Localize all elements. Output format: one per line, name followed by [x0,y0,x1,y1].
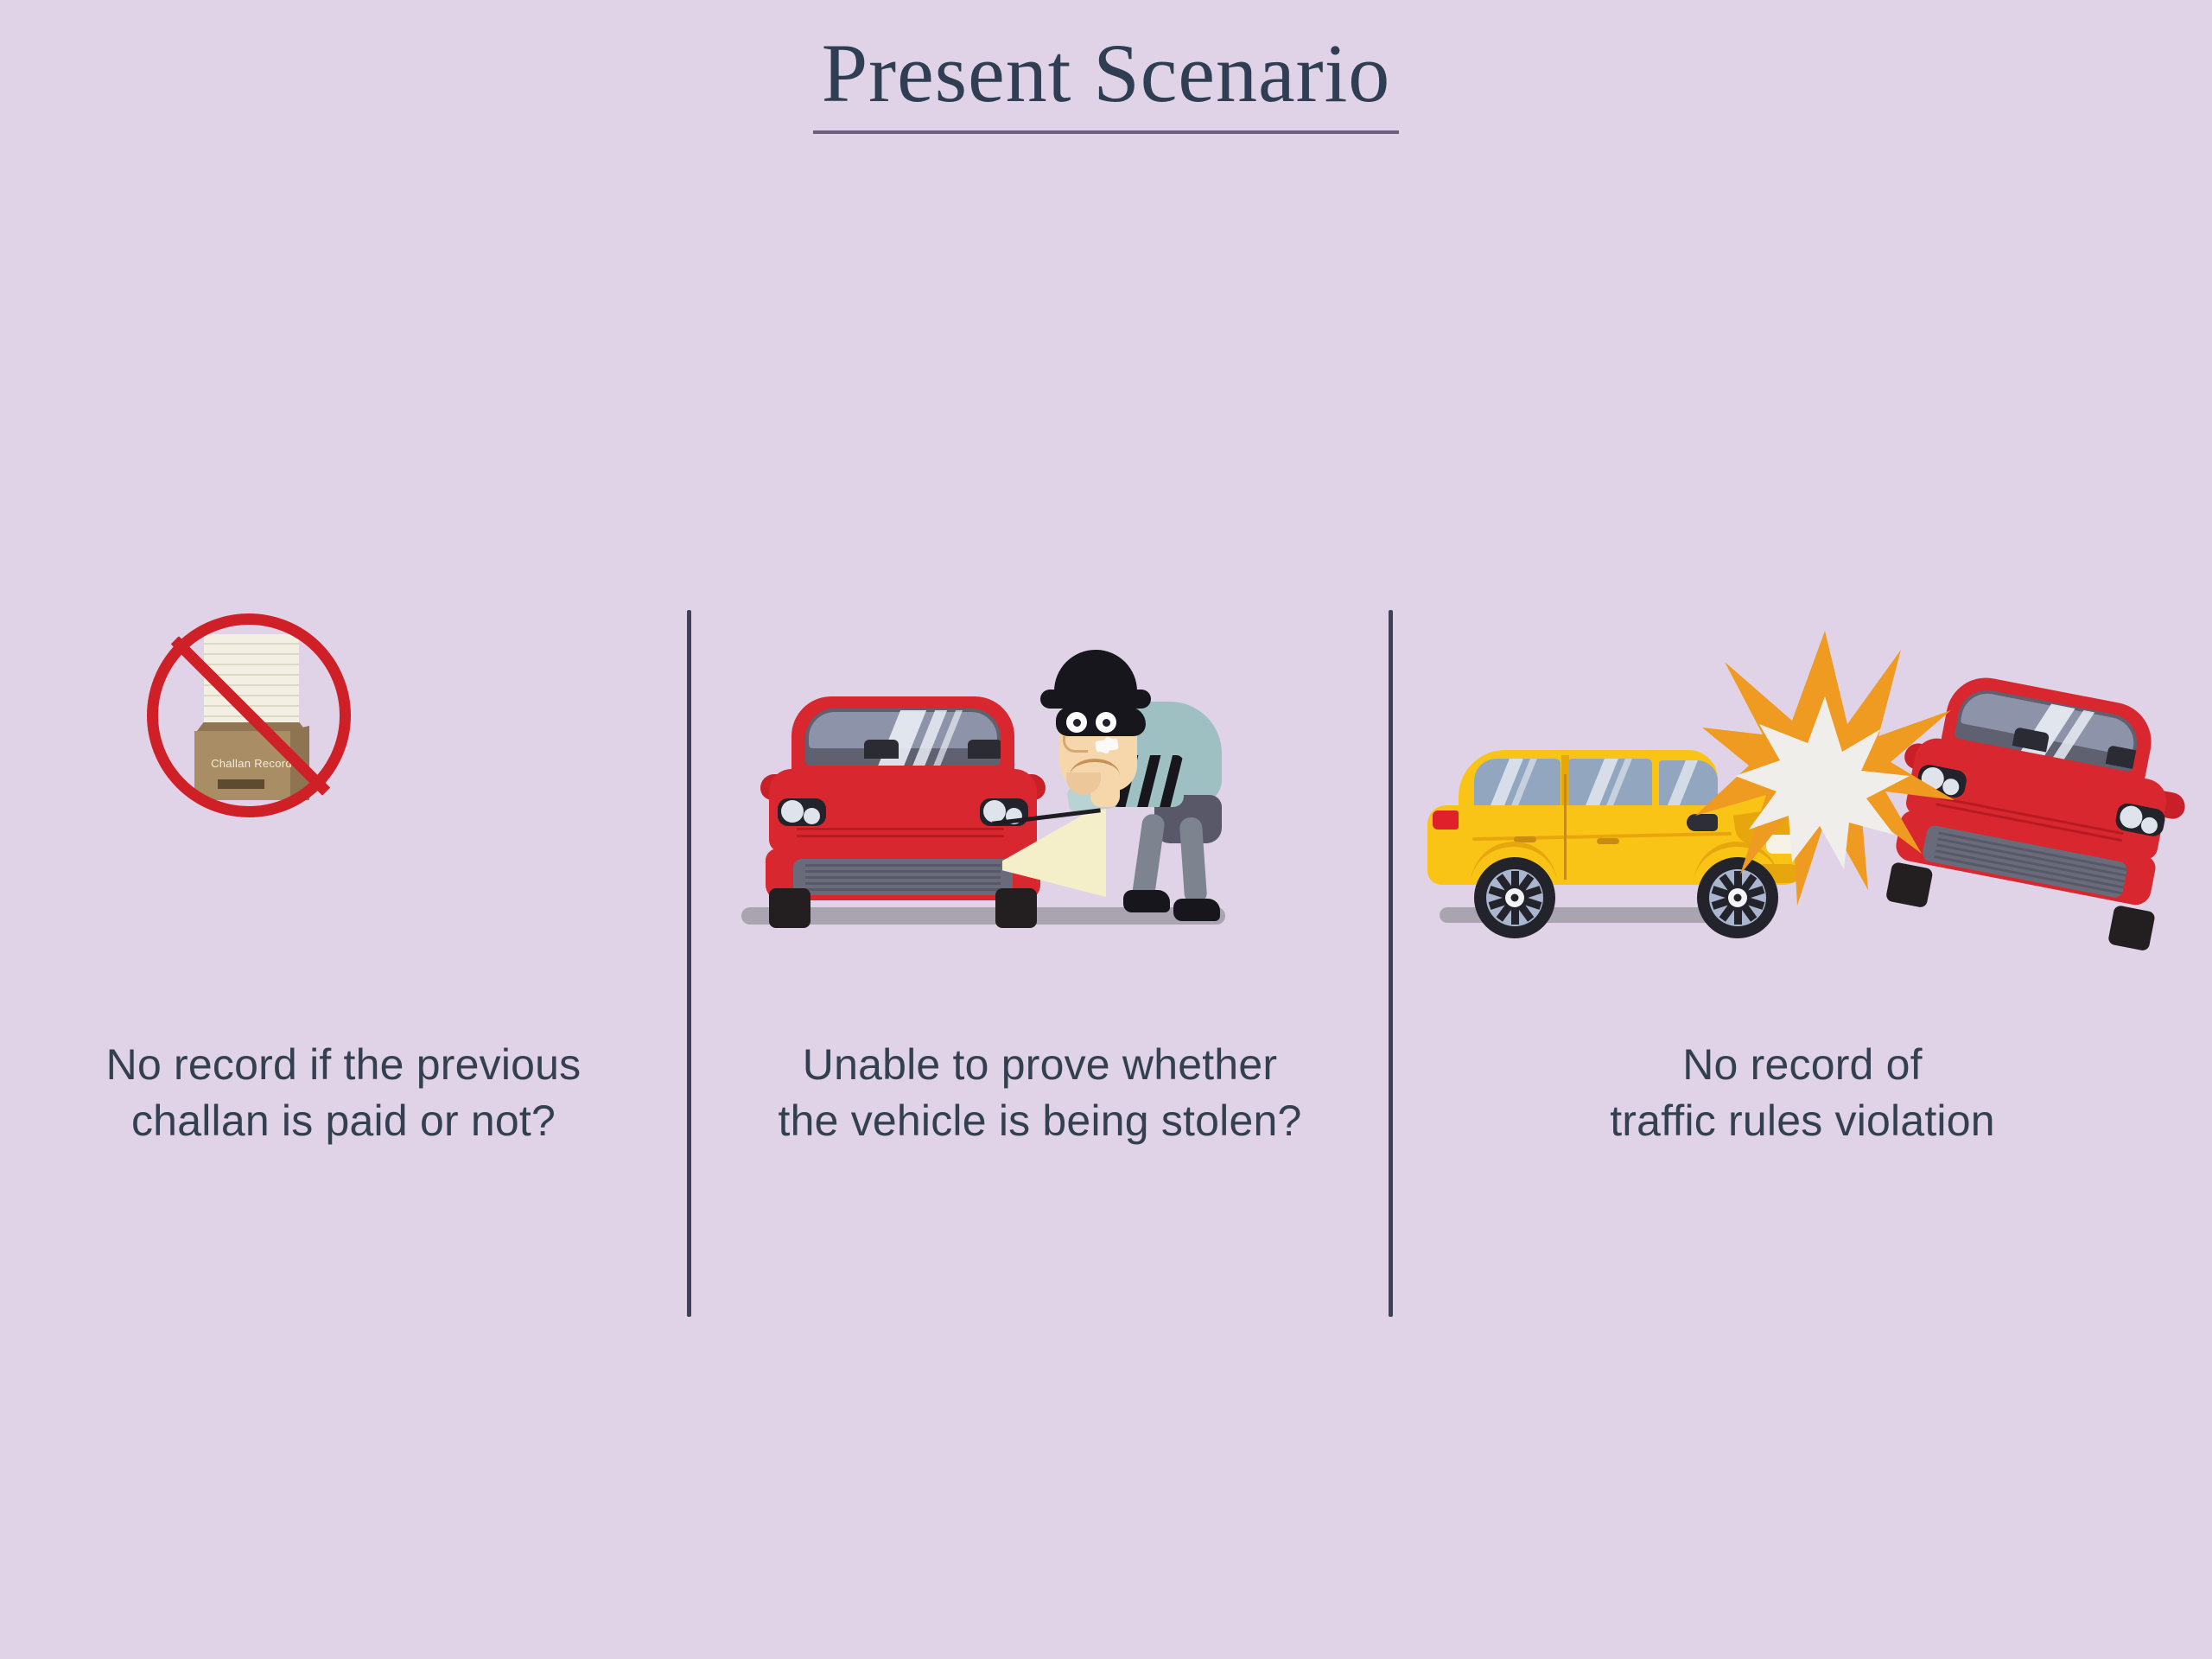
front-wheel-left [769,888,810,928]
no-record-prohibition-icon: Challan Record [147,613,372,838]
hood-crease [797,828,1004,830]
collision-illustration [1393,605,2212,950]
thief-character-icon [1021,650,1229,926]
headrest-left [864,740,899,759]
red-car-front-icon [760,696,1046,912]
panel-caption: No record of traffic rules violation [1393,1037,2212,1149]
headlight-left [778,798,826,826]
car-windshield [805,709,1001,766]
page-title: Present Scenario [813,24,1399,134]
thief-pupil-left [1073,719,1081,727]
headrest-right [968,740,1001,759]
front-wheel-right [2107,905,2156,951]
collision-scene [1410,605,2212,950]
thief-hat-crown-icon [1054,650,1137,700]
theft-scene [717,605,1374,950]
yellow-car-rear-wheel [1474,857,1555,938]
panel-no-challan-record: Challan Record No record if the previous… [0,605,687,1322]
caption-line-1: No record of [1393,1037,2212,1093]
panel-caption: Unable to prove whether the vehicle is b… [691,1037,1389,1149]
caption-line-2: challan is paid or not? [0,1093,687,1149]
thief-shoe-right [1173,899,1220,921]
thief-pupil-right [1103,719,1110,727]
panel-traffic-violation: No record of traffic rules violation [1393,605,2212,1322]
caption-line-2: the vehicle is being stolen? [691,1093,1389,1149]
caption-line-1: No record if the previous [0,1037,687,1093]
vehicle-theft-illustration [691,605,1389,950]
collision-burst-icon [1695,631,1955,916]
yellow-car-door-handle [1597,838,1619,844]
caption-line-1: Unable to prove whether [691,1037,1389,1093]
front-grille [793,859,1013,895]
panel-caption: No record if the previous challan is pai… [0,1037,687,1149]
page-header: Present Scenario [0,24,2212,134]
caption-line-2: traffic rules violation [1393,1093,2212,1149]
panel-vehicle-theft: Unable to prove whether the vehicle is b… [691,605,1389,1322]
no-record-illustration: Challan Record [0,605,687,950]
yellow-car-door-seam [1564,774,1567,880]
yellow-car-rear-window [1474,759,1560,810]
hood-crease [797,835,1004,837]
yellow-car-taillight [1433,810,1459,829]
thief-shoe-left [1123,890,1170,912]
yellow-car-front-window [1567,759,1652,810]
